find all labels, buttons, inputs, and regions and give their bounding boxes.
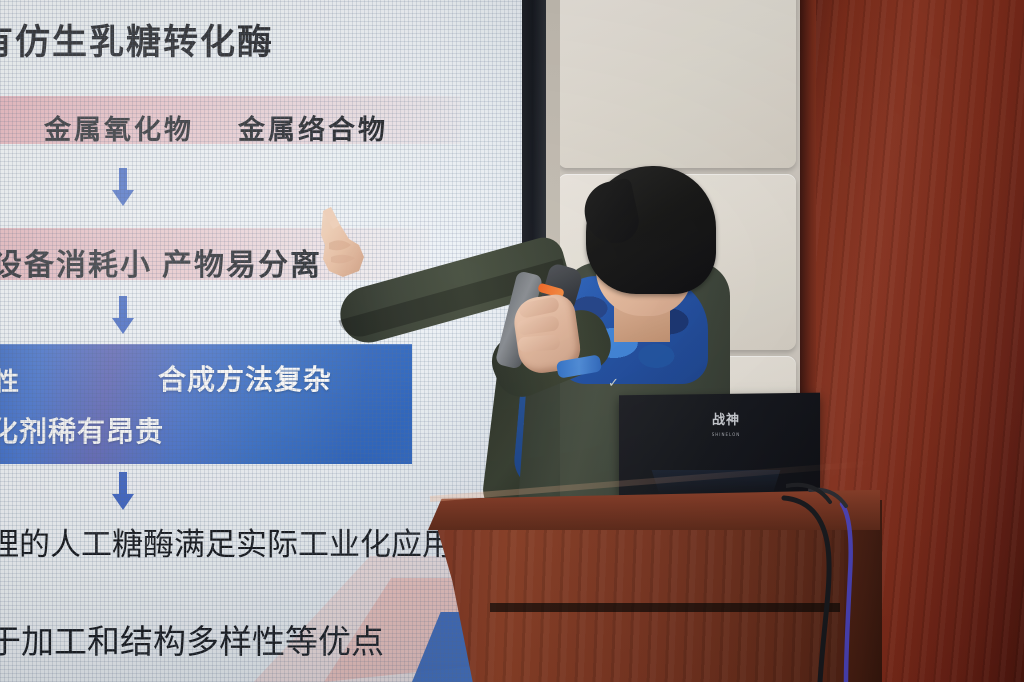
arrow-down-icon xyxy=(110,168,136,208)
projection-screen: 有仿生乳糖转化酶 金属氧化物 金属络合物 设备消耗小 产物易分离 性 合成方法复… xyxy=(0,0,522,682)
laptop-cable xyxy=(786,480,866,540)
pointing-hand xyxy=(309,205,363,271)
arrow-down-icon xyxy=(110,472,136,512)
laptop-brand-subtext: SHINELON xyxy=(696,428,756,442)
laptop-brand-text: 战神 xyxy=(712,413,740,428)
laptop-brand-logo: 战神 SHINELON xyxy=(696,414,756,438)
arrow-down-icon xyxy=(110,168,136,208)
finger xyxy=(518,335,561,353)
arrow-down-icon xyxy=(110,296,136,336)
row-advantage-left: 设备消耗小 xyxy=(0,240,152,284)
slide-footer-line-1: 理的人工糖酶满足实际工业化应用 xyxy=(0,519,453,564)
slide-footer-line-2: 于加工和结构多样性等优点 xyxy=(0,615,384,663)
cable-from-laptop xyxy=(786,485,830,502)
row-drawback-2-left: 化剂稀有昂贵 xyxy=(0,410,164,450)
pointing-hand-shape xyxy=(309,205,369,279)
jacket-logo-icon: ✓ xyxy=(608,378,630,390)
row-metal-left: 金属氧化物 xyxy=(44,108,194,147)
row-drawback-1-right: 合成方法复杂 xyxy=(158,358,332,398)
row-advantage-right: 产物易分离 xyxy=(162,240,322,284)
presentation-photo-scene: 有仿生乳糖转化酶 金属氧化物 金属络合物 设备消耗小 产物易分离 性 合成方法复… xyxy=(0,0,1024,682)
slide-title: 有仿生乳糖转化酶 xyxy=(0,14,274,65)
row-drawback-1-left: 性 xyxy=(0,362,19,398)
row-metal-right: 金属络合物 xyxy=(238,108,388,147)
arrow-down-icon xyxy=(110,296,136,336)
acoustic-pad xyxy=(558,0,796,168)
arrow-down-icon xyxy=(110,472,136,512)
